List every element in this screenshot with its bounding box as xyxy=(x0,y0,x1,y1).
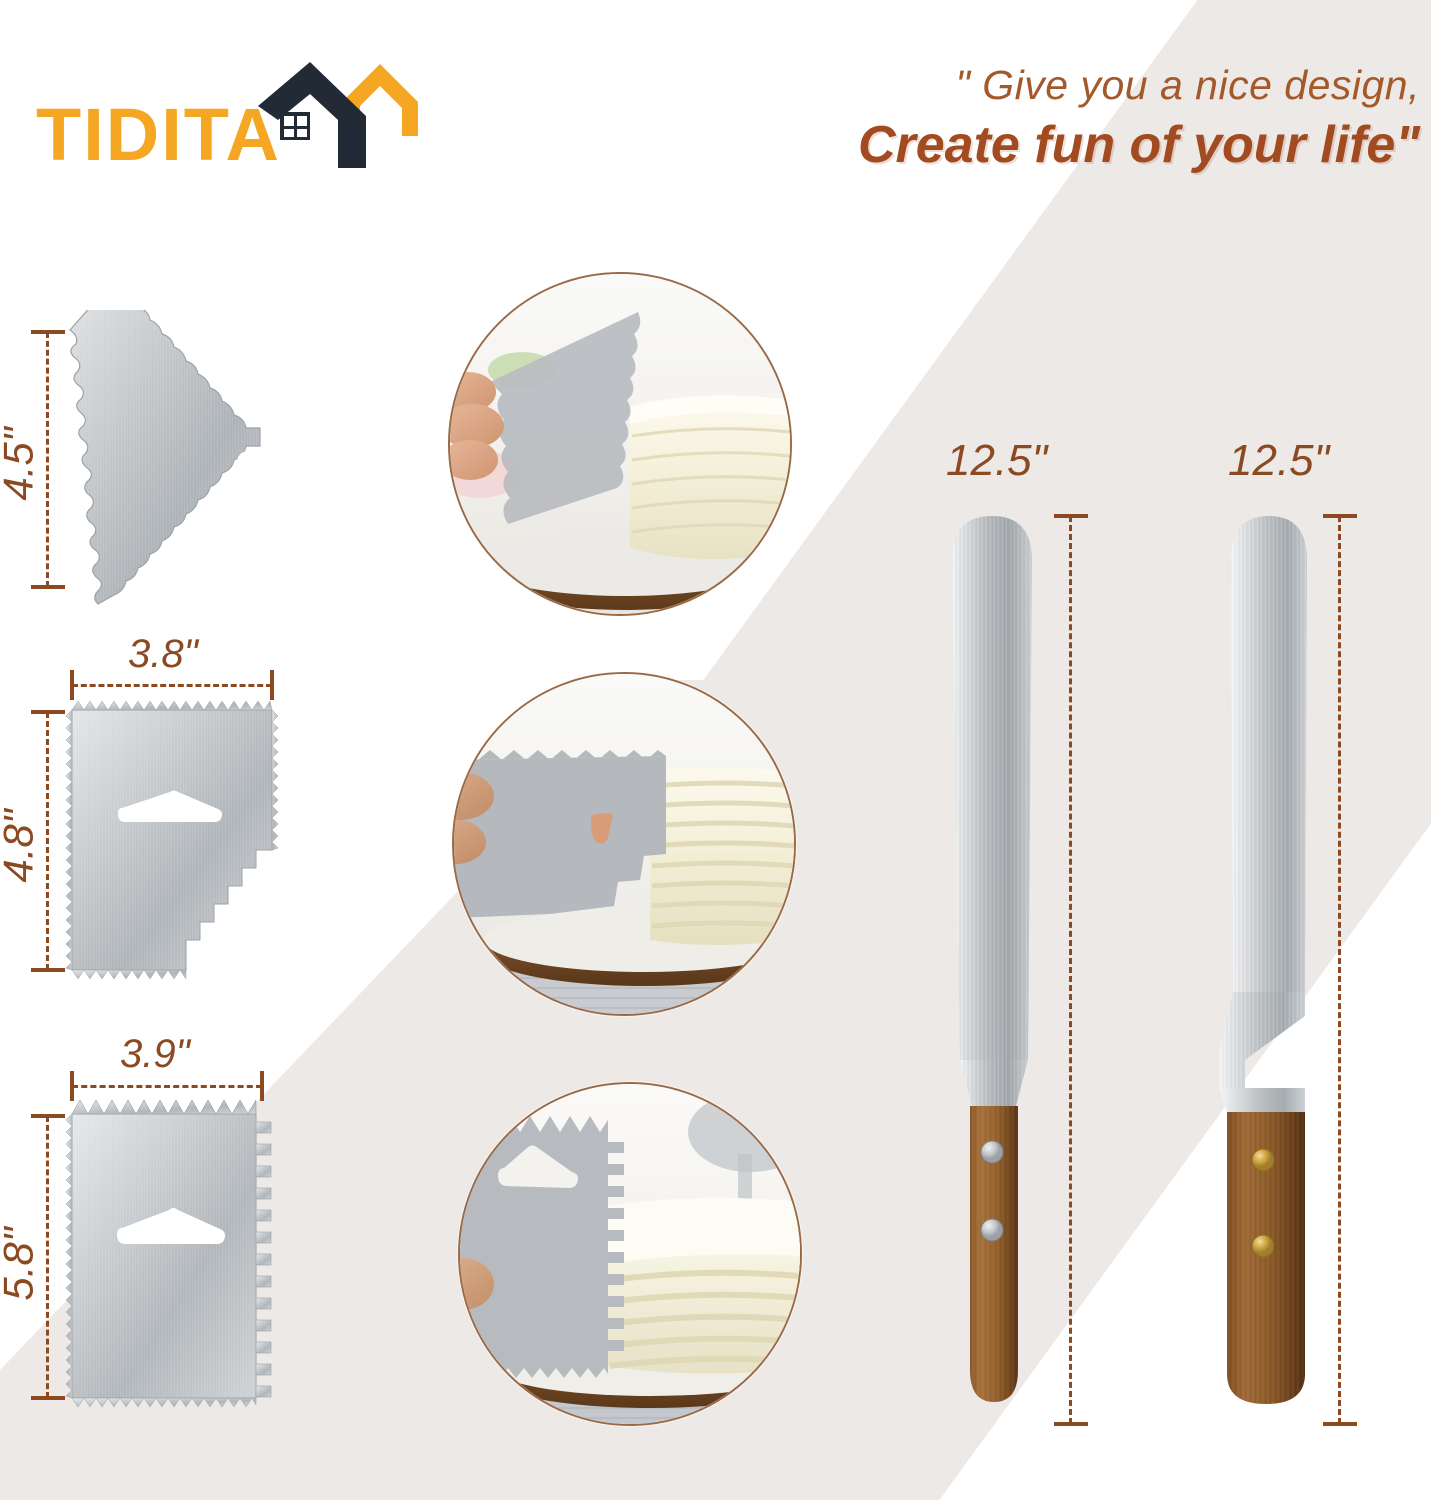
dimension-line-toothed-height xyxy=(46,1116,49,1398)
tagline-line-2: Create fun of your life" xyxy=(660,115,1420,175)
product-stepped-scraper xyxy=(66,700,296,980)
dimension-label-triangle-height: 4.5" xyxy=(0,427,43,500)
product-infographic: TIDITA " Give you a nice design, Create … xyxy=(0,0,1431,1500)
dimension-cap-top-2 xyxy=(31,710,65,714)
dimension-cap-right-3 xyxy=(260,1071,264,1101)
dimension-cap-left xyxy=(70,670,74,700)
dimension-label-toothed-height: 5.8" xyxy=(0,1227,43,1300)
dimension-cap-top-spatula2 xyxy=(1323,514,1357,518)
dimension-cap-bottom-spatula1 xyxy=(1054,1422,1088,1426)
brand-logo: TIDITA xyxy=(36,60,416,195)
dimension-line-stepped-width xyxy=(72,684,272,687)
dimension-line-triangle-height xyxy=(46,332,49,587)
dimension-label-stepped-width: 3.8" xyxy=(128,632,198,677)
inset-stepped-use xyxy=(452,672,796,1016)
dimension-label-straight-spatula: 12.5" xyxy=(946,436,1047,486)
product-offset-spatula xyxy=(1205,500,1335,1430)
brand-name: TIDITA xyxy=(36,98,281,172)
dimension-cap-bottom-2 xyxy=(31,968,65,972)
tagline: " Give you a nice design, Create fun of … xyxy=(660,62,1420,175)
dimension-line-offset-spatula xyxy=(1338,516,1341,1424)
inset-toothed-use xyxy=(458,1082,802,1426)
dimension-line-toothed-width xyxy=(72,1085,262,1088)
inset-triangle-use xyxy=(448,272,792,616)
dimension-line-stepped-height xyxy=(46,712,49,970)
dimension-cap-bottom xyxy=(31,585,65,589)
dimension-cap-right xyxy=(270,670,274,700)
product-triangle-scraper xyxy=(40,310,340,610)
dimension-label-stepped-height: 4.8" xyxy=(0,809,43,882)
dimension-cap-top xyxy=(31,330,65,334)
dimension-cap-left-3 xyxy=(70,1071,74,1101)
dimension-cap-bottom-3 xyxy=(31,1396,65,1400)
tagline-line-1: " Give you a nice design, xyxy=(660,62,1420,109)
dimension-cap-top-spatula1 xyxy=(1054,514,1088,518)
product-straight-spatula xyxy=(930,500,1060,1430)
dimension-cap-top-3 xyxy=(31,1114,65,1118)
dimension-cap-bottom-spatula2 xyxy=(1323,1422,1357,1426)
product-toothed-scraper xyxy=(66,1100,296,1420)
dimension-line-straight-spatula xyxy=(1069,516,1072,1424)
dimension-label-offset-spatula: 12.5" xyxy=(1228,436,1329,486)
dimension-label-toothed-width: 3.9" xyxy=(120,1032,190,1077)
